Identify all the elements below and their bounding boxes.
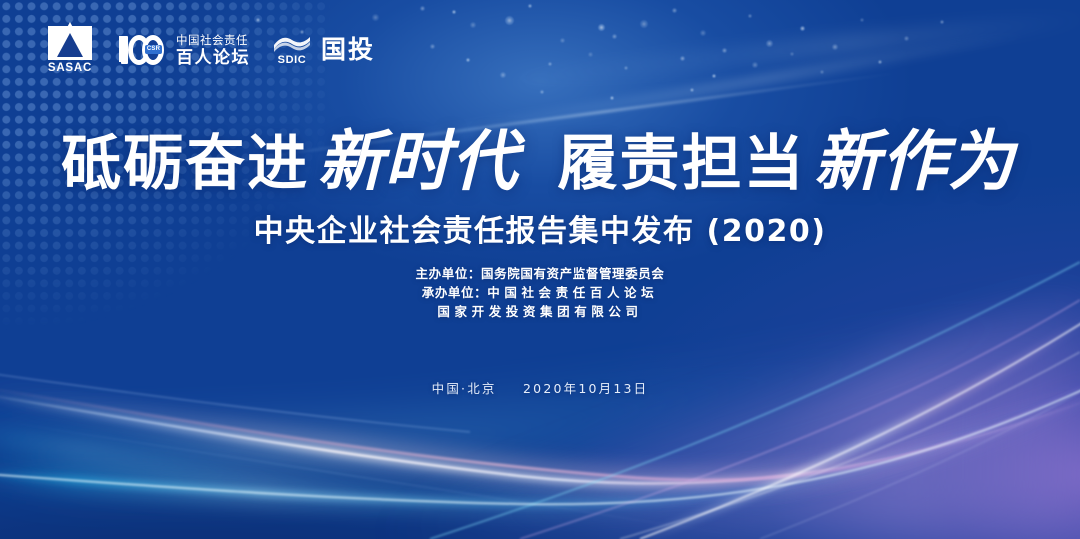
poster-subtitle: 中央企业社会责任报告集中发布 (2020) <box>0 206 1080 250</box>
sasac-logo: SASAC <box>42 26 98 74</box>
sdic-chinese-name: 国投 <box>321 38 375 63</box>
organizer-label: 主办单位： <box>416 266 482 281</box>
event-location: 中国·北京 <box>432 381 497 396</box>
csr-logo-line1: 中国社会责任 <box>176 34 250 48</box>
title-part-3: 履责担当 <box>557 115 805 202</box>
organizer-block: 主办单位：国务院国有资产监督管理委员会 承办单位：中国社会责任百人论坛 国家开发… <box>0 264 1080 321</box>
event-date: 2020年10月13日 <box>523 381 648 396</box>
sdic-mark: SDIC <box>272 34 312 66</box>
organizer-value: 国家开发投资集团有限公司 <box>437 304 642 319</box>
organizer-label: 承办单位： <box>422 285 488 300</box>
csr-logo-line2: 百人论坛 <box>176 48 250 67</box>
csr-badge-label: CSR <box>145 45 162 54</box>
sasac-wordmark: SASAC <box>48 62 92 74</box>
poster-main-title: 砥砺奋进 新时代 履责担当 新作为 <box>0 108 1080 204</box>
organizer-line: 国家开发投资集团有限公司 <box>0 302 1080 321</box>
organizer-line: 承办单位：中国社会责任百人论坛 <box>0 283 1080 302</box>
poster-canvas: SASAC CSR 中国社会责任 百人论坛 <box>0 0 1080 539</box>
sasac-triangle-mark <box>48 26 92 60</box>
csr-100-numeral-icon: CSR <box>120 32 168 68</box>
sdic-wordmark: SDIC <box>278 54 307 66</box>
event-date-location: 中国·北京 2020年10月13日 <box>0 378 1080 397</box>
organizer-line: 主办单位：国务院国有资产监督管理委员会 <box>0 264 1080 283</box>
logo-bar: SASAC CSR 中国社会责任 百人论坛 <box>42 26 375 74</box>
sdic-logo: SDIC 国投 <box>272 34 375 66</box>
csr-logo-text: 中国社会责任 百人论坛 <box>176 34 250 67</box>
title-part-4: 新作为 <box>814 108 1015 204</box>
organizer-value: 中国社会责任百人论坛 <box>487 285 658 300</box>
title-part-2: 新时代 <box>318 108 519 204</box>
organizer-value: 国务院国有资产监督管理委员会 <box>481 266 664 281</box>
sdic-waves-icon <box>272 34 312 52</box>
title-part-1: 砥砺奋进 <box>61 115 309 202</box>
csr100-logo: CSR 中国社会责任 百人论坛 <box>120 32 250 68</box>
